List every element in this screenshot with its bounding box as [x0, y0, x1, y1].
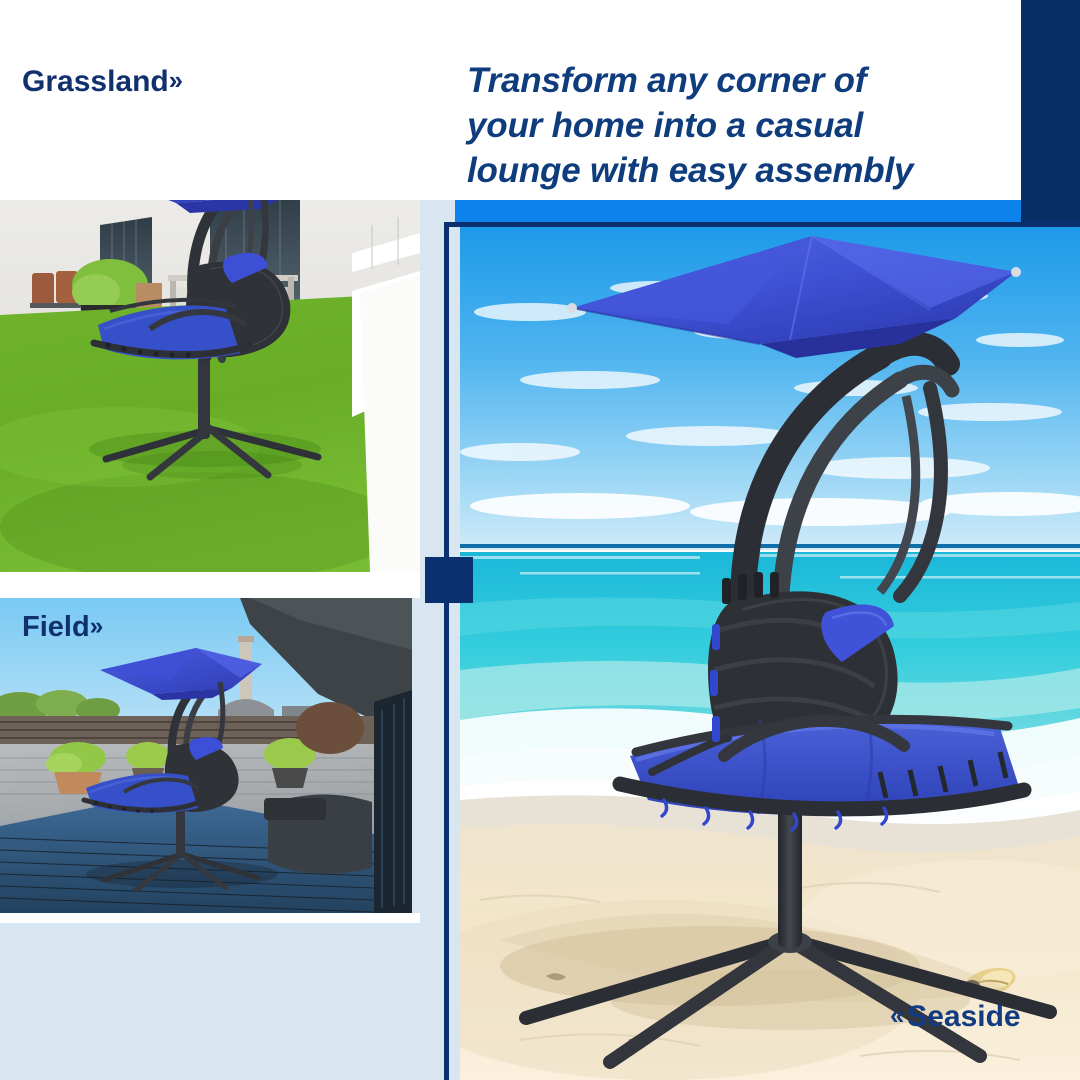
headline-line-2: your home into a casual [467, 103, 987, 148]
grassland-label-text: Grassland [22, 65, 169, 98]
chevron-right-icon: ›› [169, 67, 180, 96]
white-gap-bottom [0, 913, 420, 923]
page-title: Transform any corner of your home into a… [467, 58, 987, 193]
field-label[interactable]: Field›› [22, 611, 100, 644]
white-gap-top [0, 0, 420, 57]
headline-line-1: Transform any corner of [467, 58, 987, 103]
seaside-label-text: Seaside [907, 1000, 1020, 1033]
white-gap-middle [0, 572, 420, 598]
blue-accent-strip [455, 200, 1021, 222]
chevron-right-icon: ›› [90, 612, 101, 641]
navy-accent-square [425, 557, 473, 603]
seaside-label[interactable]: ‹‹Seaside [890, 1000, 1021, 1034]
seaside-scene[interactable] [460, 200, 1080, 1080]
field-artwork [0, 598, 412, 913]
headline-line-3: lounge with easy assembly [467, 148, 987, 193]
field-label-text: Field [22, 611, 90, 643]
poster-canvas: Transform any corner of your home into a… [0, 0, 1080, 1080]
grassland-label[interactable]: Grassland›› [22, 65, 180, 99]
field-scene[interactable] [0, 598, 412, 913]
seaside-artwork [460, 200, 1080, 1080]
navy-corner-bar [1021, 0, 1080, 222]
chevron-left-icon: ‹‹ [890, 1002, 901, 1031]
